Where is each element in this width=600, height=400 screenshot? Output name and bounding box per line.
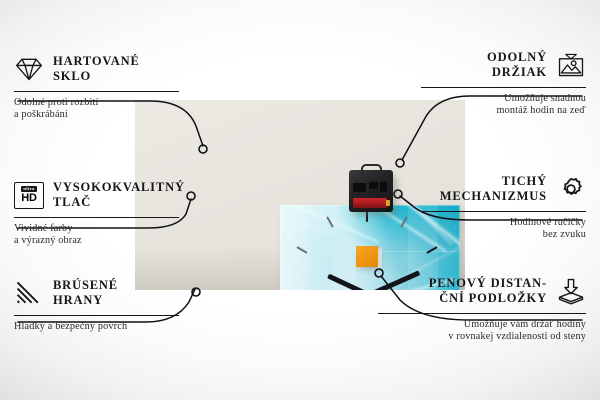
feature-bevelled-edges[interactable]: BRÚSENÉ HRANY Hladký a bezpečný povrch xyxy=(14,276,234,333)
ultra-hd-badge-icon: ultra HD xyxy=(14,182,44,209)
feature-header: HARTOVANÉ SKLO xyxy=(14,52,234,86)
feature-title: ODOLNÝ DRŽIAK xyxy=(487,50,547,80)
feature-durable-hanger[interactable]: ODOLNÝ DRŽIAK Umožňuje snadnou montáž ho… xyxy=(366,48,586,118)
feature-quiet-mechanism[interactable]: TICHÝ MECHANIZMUS Hodinové ručičky bez z… xyxy=(366,172,586,242)
feature-header: ODOLNÝ DRŽIAK xyxy=(366,48,586,82)
gear-icon xyxy=(556,175,586,203)
feature-subtitle-line1: Umožňuje vám držať hodiny xyxy=(346,319,586,331)
foam-spacer-icon xyxy=(556,277,586,305)
feature-header: PENOVÝ DISTAN- ČNÍ PODLOŽKY xyxy=(346,274,586,308)
product-feature-infographic: HARTOVANÉ SKLO Odolné proti rozbití a po… xyxy=(0,0,600,400)
feature-subtitle-line2: v rovnakej vzdialenosti od steny xyxy=(346,331,586,343)
feature-header: TICHÝ MECHANIZMUS xyxy=(366,172,586,206)
feature-subtitle-line2: a výrazný obraz xyxy=(14,235,234,247)
feature-title: TICHÝ MECHANIZMUS xyxy=(440,174,547,204)
feature-divider xyxy=(421,211,586,212)
feature-divider xyxy=(14,91,179,92)
feature-divider xyxy=(14,217,179,218)
feature-title: BRÚSENÉ HRANY xyxy=(53,278,118,308)
feature-subtitle-line1: Umožňuje snadnou xyxy=(366,93,586,105)
feature-subtitle-line1: Hodinové ručičky xyxy=(366,217,586,229)
feature-subtitle-line2: montáž hodin na zeď xyxy=(366,105,586,117)
badge-hd-label: HD xyxy=(21,193,37,204)
feature-high-quality-print[interactable]: ultra HD VYSOKOKVALITNÝ TLAČ Vividné far… xyxy=(14,178,234,248)
feature-header: BRÚSENÉ HRANY xyxy=(14,276,234,310)
wall-hanger-picture-icon xyxy=(556,51,586,79)
feature-title: VYSOKOKVALITNÝ TLAČ xyxy=(53,180,185,210)
feature-subtitle-line2: bez zvuku xyxy=(366,229,586,241)
feature-divider xyxy=(378,313,586,314)
feature-subtitle-line1: Odolné proti rozbití xyxy=(14,97,234,109)
feature-header: ultra HD VYSOKOKVALITNÝ TLAČ xyxy=(14,178,234,212)
feature-subtitle-line1: Hladký a bezpečný povrch xyxy=(14,321,234,333)
feature-title: HARTOVANÉ SKLO xyxy=(53,54,140,84)
bevelled-edges-icon xyxy=(14,279,44,307)
feature-divider xyxy=(14,315,179,316)
feature-hardened-glass[interactable]: HARTOVANÉ SKLO Odolné proti rozbití a po… xyxy=(14,52,234,122)
diamond-icon xyxy=(14,55,44,83)
feature-title: PENOVÝ DISTAN- ČNÍ PODLOŽKY xyxy=(429,276,547,306)
feature-foam-spacers[interactable]: PENOVÝ DISTAN- ČNÍ PODLOŽKY Umožňuje vám… xyxy=(346,274,586,344)
feature-subtitle-line1: Vividné farby xyxy=(14,223,234,235)
feature-subtitle-line2: a poškrábání xyxy=(14,109,234,121)
feature-divider xyxy=(421,87,586,88)
